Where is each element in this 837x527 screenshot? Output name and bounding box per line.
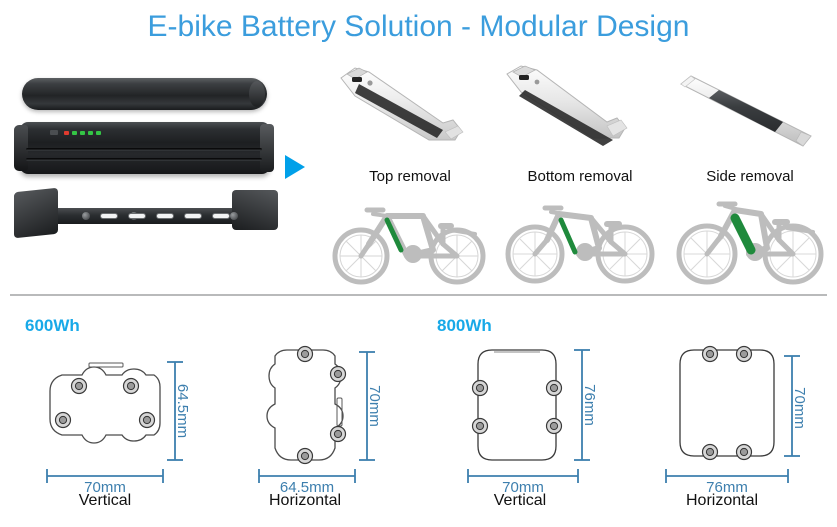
spec-view-600-horizontal: 70mm 64.5mm Horizontal [215,342,395,522]
view-label: Vertical [430,492,610,510]
variant-bottom-removal: Bottom removal [495,60,665,290]
spec-section-600wh: 600Wh [0,304,420,527]
dimension-height-600-vertical: 64.5mm [174,384,191,438]
dimension-height-800-vertical: 76mm [581,384,598,426]
dimension-height-600-horizontal: 70mm [366,385,383,427]
rail-slot [212,213,230,219]
rail-lock-right [232,190,278,230]
battery-groove [26,158,262,161]
spec-section-800wh: 800Wh [420,304,837,527]
battery-cover-image [22,78,267,110]
variant-top-removal: Top removal [325,60,495,290]
variant-caption: Bottom removal [495,168,665,185]
power-button-icon [50,130,58,135]
rail-screw [230,212,238,220]
rail-screw [82,212,90,220]
product-exploded-view [12,78,282,278]
view-label: Horizontal [215,492,395,510]
rail-lock-left [14,188,58,239]
section-divider [10,294,827,296]
variant-caption: Side removal [665,168,835,185]
ebike-silhouette-icon [665,192,835,288]
battery-angled-top-removal-icon [325,60,495,160]
capacity-label: 800Wh [437,316,492,336]
view-label: Horizontal [632,492,812,510]
rail-slot [128,213,146,219]
variant-caption: Top removal [325,168,495,185]
rail-slot [100,213,118,219]
page-title: E-bike Battery Solution - Modular Design [0,10,837,44]
rail-slot [156,213,174,219]
battery-end-cap [260,124,274,172]
play-triangle-icon [285,155,305,179]
battery-angled-bottom-removal-icon [495,60,665,160]
spec-view-600-vertical: 64.5mm 70mm Vertical [15,342,195,522]
variant-side-removal: Side removal [665,60,835,290]
view-label: Vertical [15,492,195,510]
spec-view-800-vertical: 76mm 70mm Vertical [430,342,610,522]
ebike-silhouette-icon [495,192,665,288]
led-green-icon [96,131,101,135]
led-green-icon [80,131,85,135]
capacity-label: 600Wh [25,316,80,336]
ebike-silhouette-icon [325,192,495,288]
battery-groove [26,148,262,151]
rail-slot [184,213,202,219]
battery-pack-image [20,122,270,174]
battery-straight-side-removal-icon [665,60,835,160]
led-indicator-group [50,130,101,135]
spec-view-800-horizontal: 70mm 76mm Horizontal [632,342,812,522]
dimension-height-800-horizontal: 70mm [791,387,808,429]
led-green-icon [72,131,77,135]
poster-root: E-bike Battery Solution - Modular Design [0,0,837,527]
led-red-icon [64,131,69,135]
led-green-icon [88,131,93,135]
mounting-rail-image [12,182,280,240]
